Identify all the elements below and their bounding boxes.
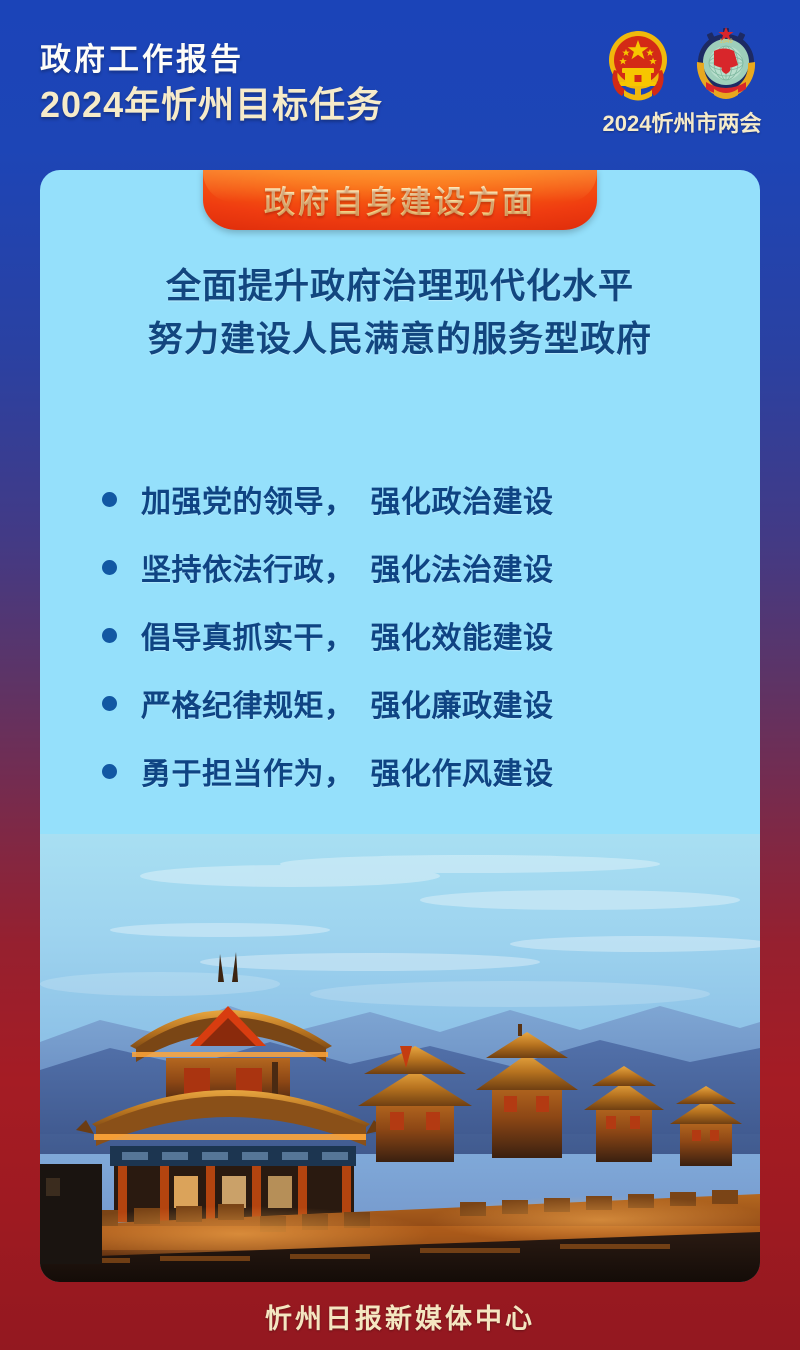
poster-root: 政府工作报告 2024年忻州目标任务 (0, 0, 800, 1350)
bullet-text: 倡导真抓实干，强化效能建设 (141, 613, 554, 657)
bullet-text: 坚持依法行政，强化法治建设 (141, 545, 554, 589)
section-banner: 政府自身建设方面 (203, 170, 597, 230)
bullet-text: 勇于担当作为，强化作风建设 (141, 749, 554, 793)
bullet-text: 严格纪律规矩，强化廉政建设 (141, 681, 554, 725)
national-emblem-icon (600, 26, 676, 104)
emblem-row: 1949 (592, 26, 772, 104)
list-item: 加强党的领导，强化政治建设 (102, 465, 702, 533)
heading-line-1: 全面提升政府治理现代化水平 (40, 260, 760, 313)
ancient-city-illustration (40, 834, 760, 1282)
ancient-city-photo (40, 834, 760, 1282)
two-sessions-label: 2024忻州市两会 (592, 106, 772, 138)
poster-header: 政府工作报告 2024年忻州目标任务 (0, 0, 800, 168)
bullet-dot-icon (102, 492, 117, 507)
report-title: 政府工作报告 (40, 42, 383, 79)
report-subtitle-year: 2024年忻州目标任务 (40, 83, 383, 127)
bullet-dot-icon (102, 560, 117, 575)
header-emblem-block: 1949 (592, 26, 772, 138)
bullet-list: 加强党的领导，强化政治建设 坚持依法行政，强化法治建设 倡导真抓实干，强化效能建… (102, 465, 702, 805)
heading-line-2: 努力建设人民满意的服务型政府 (40, 313, 760, 366)
bullet-text: 加强党的领导，强化政治建设 (141, 477, 554, 521)
list-item: 倡导真抓实干，强化效能建设 (102, 601, 702, 669)
source-label: 忻州日报新媒体中心 (265, 1297, 535, 1336)
list-item: 勇于担当作为，强化作风建设 (102, 737, 702, 805)
list-item: 坚持依法行政，强化法治建设 (102, 533, 702, 601)
bullet-dot-icon (102, 696, 117, 711)
svg-text:1949: 1949 (719, 39, 733, 45)
content-card: 政府自身建设方面 全面提升政府治理现代化水平 努力建设人民满意的服务型政府 加强… (40, 170, 760, 1282)
card-heading: 全面提升政府治理现代化水平 努力建设人民满意的服务型政府 (40, 260, 760, 366)
header-title-block: 政府工作报告 2024年忻州目标任务 (40, 42, 383, 126)
cppcc-emblem-icon: 1949 (688, 26, 764, 104)
poster-footer: 忻州日报新媒体中心 (0, 1282, 800, 1350)
bullet-dot-icon (102, 628, 117, 643)
list-item: 严格纪律规矩，强化廉政建设 (102, 669, 702, 737)
bullet-dot-icon (102, 764, 117, 779)
section-banner-label: 政府自身建设方面 (264, 177, 536, 222)
